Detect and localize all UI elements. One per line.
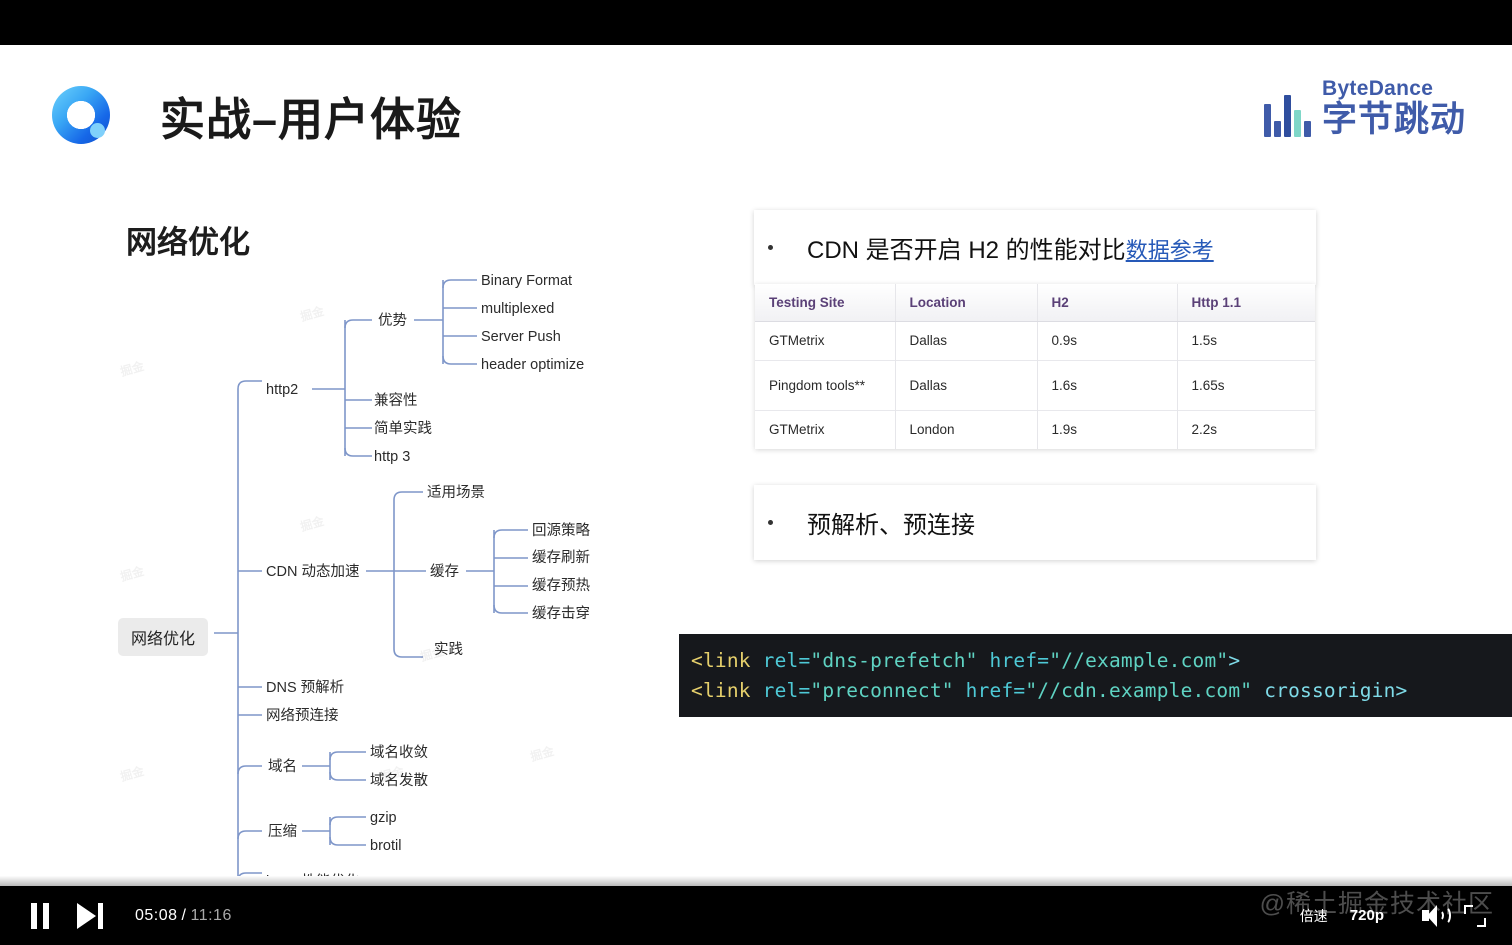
- mindmap-node[interactable]: Server Push: [481, 330, 561, 345]
- table-row: GTMetrix Dallas 0.9s 1.5s: [755, 321, 1315, 360]
- mindmap-node[interactable]: 优势: [378, 314, 407, 329]
- bytedance-bars-icon: [1264, 95, 1311, 137]
- code-token-tag: <link: [691, 649, 751, 672]
- mindmap-node[interactable]: 压缩: [268, 825, 297, 840]
- mindmap-node[interactable]: 适用场景: [427, 486, 485, 501]
- mindmap-node[interactable]: 缓存预热: [532, 579, 590, 594]
- mindmap: 网络优化 http2 优势 Binary Format multiplexed …: [0, 45, 700, 886]
- mindmap-node[interactable]: 缓存: [430, 565, 459, 580]
- code-token-string: "//example.com": [1049, 649, 1228, 672]
- slide-content: 实战–用户体验 ByteDance 字节跳动 网络优化: [0, 45, 1512, 886]
- brand-name-en: ByteDance: [1322, 78, 1466, 99]
- brand-name-cn: 字节跳动: [1322, 102, 1466, 137]
- mindmap-node[interactable]: 网络预连接: [266, 709, 339, 724]
- bullet-dot-icon: [768, 520, 773, 525]
- code-snippet: <link rel="dns-prefetch" href="//example…: [679, 634, 1512, 717]
- mindmap-node[interactable]: DNS 预解析: [266, 681, 344, 696]
- code-token-string: "preconnect": [810, 679, 953, 702]
- fullscreen-icon[interactable]: [1464, 905, 1486, 927]
- time-display: 05:08/11:16: [135, 907, 232, 925]
- volume-icon[interactable]: [1422, 904, 1448, 928]
- code-token-extra: crossorigin: [1264, 679, 1395, 702]
- cell-http11: 1.5s: [1177, 321, 1315, 360]
- mindmap-node[interactable]: gzip: [370, 811, 397, 826]
- bullet-dot-icon: [768, 245, 773, 250]
- cell-h2: 0.9s: [1037, 321, 1177, 360]
- mindmap-node[interactable]: CDN 动态加速: [266, 565, 359, 580]
- cell-testing-site: GTMetrix: [755, 410, 895, 449]
- bullet-label-cdn-h2: CDN 是否开启 H2 的性能对比: [807, 230, 1126, 265]
- cell-h2: 1.6s: [1037, 360, 1177, 410]
- mindmap-node[interactable]: brotil: [370, 839, 401, 854]
- data-reference-link[interactable]: 数据参考: [1126, 233, 1214, 265]
- table-row: Pingdom tools** Dallas 1.6s 1.65s: [755, 360, 1315, 410]
- mindmap-node[interactable]: 缓存刷新: [532, 551, 590, 566]
- mindmap-node[interactable]: 简单实践: [374, 422, 432, 437]
- total-time: 11:16: [191, 907, 232, 924]
- column-header-h2: H2: [1037, 284, 1177, 321]
- mindmap-node[interactable]: http2: [266, 383, 298, 398]
- next-track-icon[interactable]: [77, 903, 103, 929]
- code-token-attr: rel=: [763, 679, 811, 702]
- table-header-row: Testing Site Location H2 Http 1.1: [755, 284, 1315, 321]
- mindmap-node[interactable]: 域名收敛: [370, 746, 428, 761]
- mindmap-node[interactable]: header optimize: [481, 358, 584, 373]
- bullet-panel-prefetch: 预解析、预连接: [754, 485, 1316, 560]
- bullet-panel-cdn-h2: CDN 是否开启 H2 的性能对比 数据参考: [754, 210, 1316, 285]
- mindmap-node[interactable]: 缓存击穿: [532, 607, 590, 622]
- mindmap-node[interactable]: Binary Format: [481, 274, 572, 289]
- mindmap-node[interactable]: 回源策略: [532, 524, 590, 539]
- playback-speed-button[interactable]: 倍速: [1300, 906, 1328, 926]
- code-token-attr: href=: [990, 649, 1050, 672]
- cell-http11: 2.2s: [1177, 410, 1315, 449]
- player-controls: 05:08/11:16 倍速 720p: [0, 886, 1512, 945]
- video-player-stage: 实战–用户体验 ByteDance 字节跳动 网络优化: [0, 0, 1512, 945]
- code-line-2: <link rel="preconnect" href="//cdn.examp…: [691, 676, 1512, 706]
- code-token-tag-close: >: [1396, 679, 1408, 702]
- code-token-string: "dns-prefetch": [810, 649, 977, 672]
- code-token-attr: href=: [966, 679, 1026, 702]
- mindmap-connectors: [0, 45, 700, 886]
- code-token-tag: <link: [691, 679, 751, 702]
- mindmap-node[interactable]: 域名: [268, 760, 297, 775]
- page-scrollbar[interactable]: [0, 876, 1512, 886]
- mindmap-root-node[interactable]: 网络优化: [118, 618, 208, 656]
- code-token-string: "//cdn.example.com": [1025, 679, 1252, 702]
- cell-location: Dallas: [895, 321, 1037, 360]
- cell-location: London: [895, 410, 1037, 449]
- cell-location: Dallas: [895, 360, 1037, 410]
- mindmap-node[interactable]: 兼容性: [374, 394, 418, 409]
- performance-comparison-table: Testing Site Location H2 Http 1.1 GTMetr…: [755, 284, 1315, 449]
- column-header-http11: Http 1.1: [1177, 284, 1315, 321]
- current-time: 05:08: [135, 907, 178, 924]
- letterbox-top: [0, 0, 1512, 45]
- code-token-attr: rel=: [763, 649, 811, 672]
- code-line-1: <link rel="dns-prefetch" href="//example…: [691, 646, 1512, 676]
- quality-button[interactable]: 720p: [1350, 907, 1384, 924]
- bytedance-logo: ByteDance 字节跳动: [1264, 78, 1466, 137]
- cell-testing-site: Pingdom tools**: [755, 360, 895, 410]
- bullet-label-prefetch: 预解析、预连接: [807, 505, 975, 540]
- time-separator: /: [182, 907, 187, 924]
- table-row: GTMetrix London 1.9s 2.2s: [755, 410, 1315, 449]
- cell-http11: 1.65s: [1177, 360, 1315, 410]
- cell-h2: 1.9s: [1037, 410, 1177, 449]
- mindmap-node[interactable]: multiplexed: [481, 302, 554, 317]
- column-header-testing-site: Testing Site: [755, 284, 895, 321]
- code-token-tag-close: >: [1228, 649, 1240, 672]
- pause-icon[interactable]: [28, 903, 52, 929]
- mindmap-node[interactable]: http 3: [374, 450, 410, 465]
- column-header-location: Location: [895, 284, 1037, 321]
- cell-testing-site: GTMetrix: [755, 321, 895, 360]
